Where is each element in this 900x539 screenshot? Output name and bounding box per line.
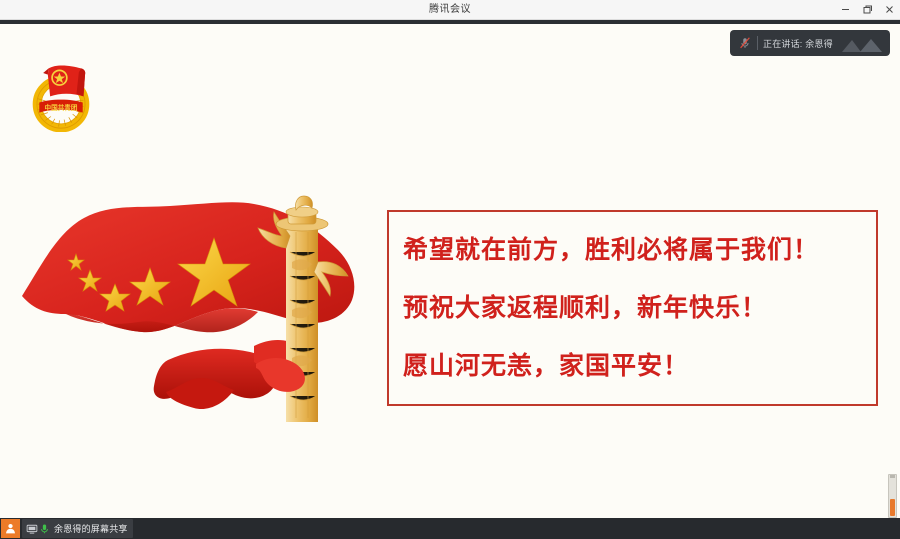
active-speaker-bar[interactable]: 正在讲话: 余恩得	[730, 30, 890, 56]
slogan-line-3: 愿山河无恙，家国平安！	[403, 337, 862, 395]
screen-share-indicator-icon[interactable]	[1, 519, 20, 538]
slogan-line-2: 预祝大家返程顺利，新年快乐！	[403, 279, 862, 337]
scrollbar-track-cap	[890, 475, 895, 478]
active-speaker-label: 正在讲话: 余恩得	[763, 37, 833, 50]
video-off-placeholder-icon[interactable]	[839, 33, 886, 53]
microphone-icon	[38, 522, 51, 535]
restore-button[interactable]	[856, 0, 878, 19]
speaker-bar-divider	[757, 36, 758, 50]
minimize-button[interactable]	[834, 0, 856, 19]
vertical-scrollbar[interactable]	[888, 474, 897, 518]
title-bar: 腾讯会议	[0, 0, 900, 20]
scrollbar-thumb[interactable]	[890, 499, 895, 516]
close-button[interactable]	[878, 0, 900, 19]
communist-youth-league-emblem: 中国共青团	[22, 56, 100, 132]
monitor-icon	[25, 522, 38, 535]
slogan-line-1: 希望就在前方，胜利必将属于我们！	[403, 221, 862, 279]
slogan-box: 希望就在前方，胜利必将属于我们！ 预祝大家返程顺利，新年快乐！ 愿山河无恙，家国…	[387, 210, 878, 406]
chinese-flag-huabiao-illustration	[18, 192, 378, 424]
tencent-meeting-window: 腾讯会议	[0, 0, 900, 539]
taskbar: 余恩得的屏幕共享	[0, 518, 900, 539]
microphone-muted-icon[interactable]	[734, 32, 756, 54]
shared-screen-canvas: 中国共青团	[0, 24, 900, 518]
emblem-banner-text: 中国共青团	[45, 103, 78, 112]
screen-share-taskbar-label: 余恩得的屏幕共享	[54, 522, 128, 535]
window-title: 腾讯会议	[0, 0, 900, 19]
window-controls	[834, 0, 900, 19]
screen-share-taskbar-chip[interactable]: 余恩得的屏幕共享	[22, 519, 133, 538]
